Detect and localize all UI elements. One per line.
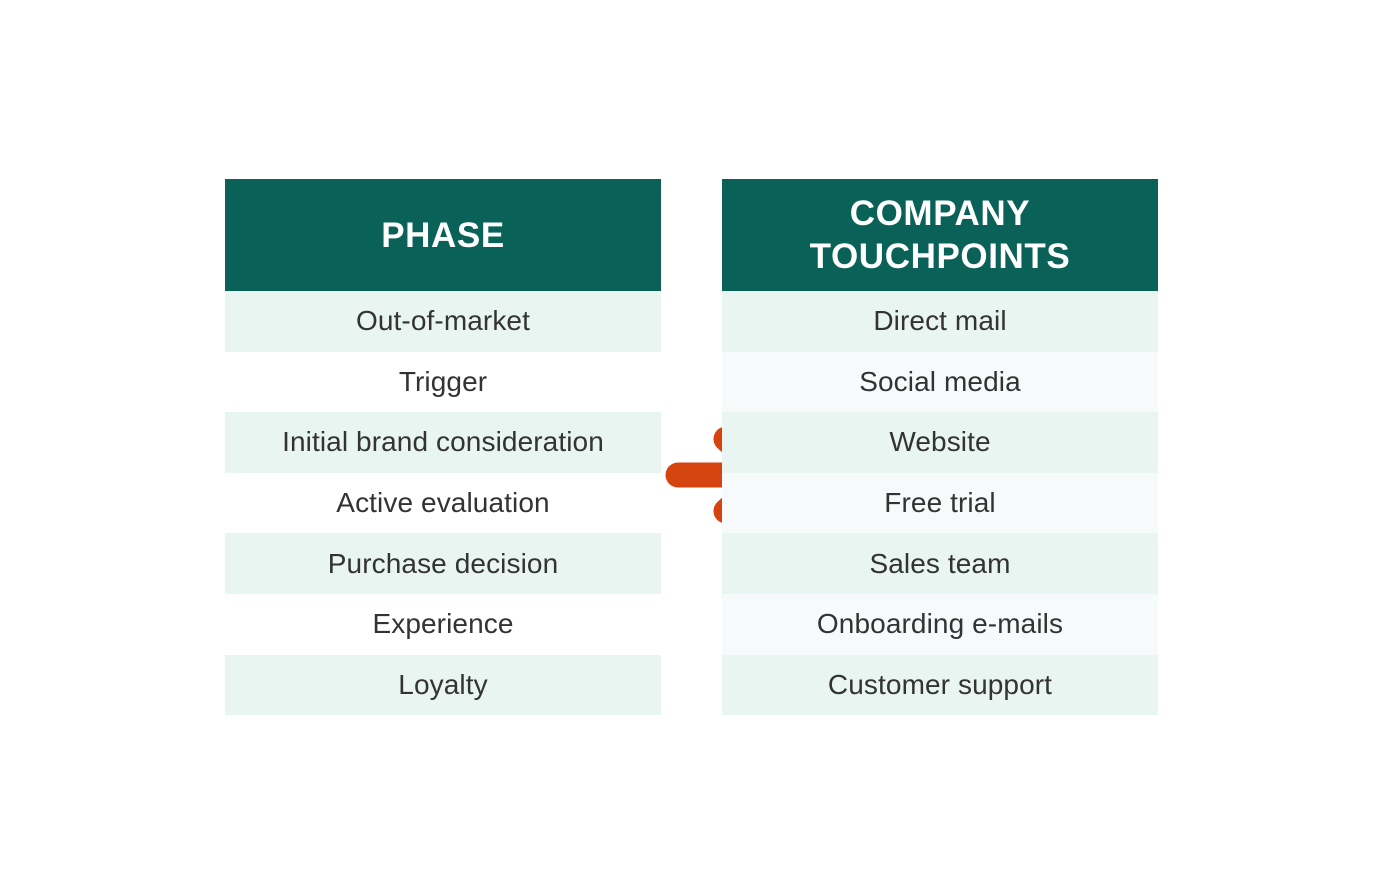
phase-row-label: Out-of-market (356, 305, 530, 337)
phase-table-header-label: PHASE (381, 214, 505, 257)
phase-row-label: Purchase decision (328, 548, 559, 580)
touchpoint-row-label: Direct mail (873, 305, 1006, 337)
touchpoints-table: COMPANY TOUCHPOINTS Direct mail Social m… (722, 179, 1158, 715)
touchpoints-table-header: COMPANY TOUCHPOINTS (722, 179, 1158, 291)
table-row: Initial brand consideration (225, 412, 661, 473)
touchpoint-row-label: Onboarding e-mails (817, 608, 1063, 640)
table-row: Free trial (722, 473, 1158, 534)
phase-table-header: PHASE (225, 179, 661, 291)
touchpoint-row-label: Website (889, 426, 990, 458)
table-row: Trigger (225, 352, 661, 413)
table-row: Loyalty (225, 655, 661, 716)
phase-row-label: Initial brand consideration (282, 426, 604, 458)
phase-table-body: Out-of-market Trigger Initial brand cons… (225, 291, 661, 715)
touchpoint-row-label: Social media (859, 366, 1021, 398)
table-row: Experience (225, 594, 661, 655)
touchpoint-row-label: Sales team (869, 548, 1010, 580)
touchpoints-table-header-line1: COMPANY (810, 192, 1071, 235)
table-row: Customer support (722, 655, 1158, 716)
phase-row-label: Loyalty (398, 669, 487, 701)
phase-row-label: Experience (372, 608, 513, 640)
phase-touchpoints-diagram: PHASE Out-of-market Trigger Initial bran… (0, 0, 1381, 896)
touchpoints-table-header-line2: TOUCHPOINTS (810, 235, 1071, 278)
phase-row-label: Trigger (399, 366, 487, 398)
phase-row-label: Active evaluation (336, 487, 549, 519)
touchpoint-row-label: Customer support (828, 669, 1052, 701)
touchpoint-row-label: Free trial (884, 487, 995, 519)
table-row: Website (722, 412, 1158, 473)
table-row: Sales team (722, 533, 1158, 594)
table-row: Active evaluation (225, 473, 661, 534)
table-row: Direct mail (722, 291, 1158, 352)
table-row: Out-of-market (225, 291, 661, 352)
table-row: Purchase decision (225, 533, 661, 594)
touchpoints-table-body: Direct mail Social media Website Free tr… (722, 291, 1158, 715)
table-row: Onboarding e-mails (722, 594, 1158, 655)
table-row: Social media (722, 352, 1158, 413)
phase-table: PHASE Out-of-market Trigger Initial bran… (225, 179, 661, 715)
